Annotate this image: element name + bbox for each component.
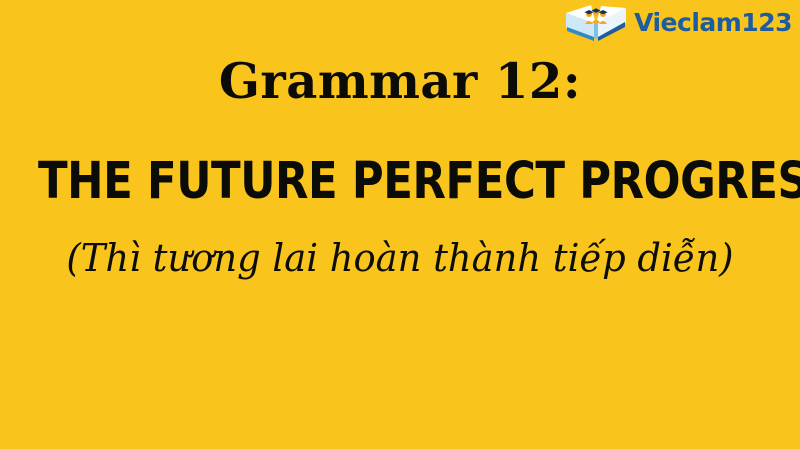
slide-canvas: Vieclam123 Grammar 12: THE FUTURE PERFEC…: [0, 0, 800, 449]
lesson-title: Grammar 12:: [8, 52, 792, 110]
tense-name-heading: THE FUTURE PERFECT PROGRESSIVE: [38, 152, 762, 209]
open-book-with-graduates-icon: [564, 4, 628, 42]
vietnamese-subtitle: (Thì tương lai hoàn thành tiếp diễn): [12, 232, 788, 284]
brand-logo[interactable]: Vieclam123: [564, 4, 792, 42]
brand-name-label: Vieclam123: [634, 10, 792, 37]
